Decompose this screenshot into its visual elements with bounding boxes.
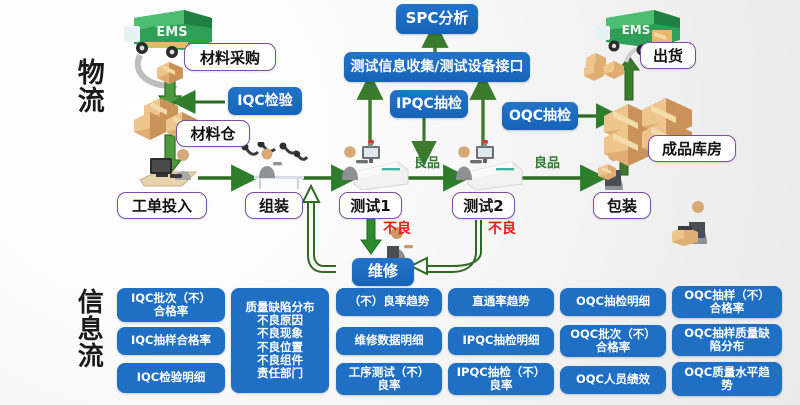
chip-oqc-sampling-defect-distribution[interactable]: OQC抽样质量缺 陷分布 xyxy=(672,324,782,356)
chip-iqc-sampling-pass-rate[interactable]: IQC抽样合格率 xyxy=(117,327,225,355)
box-spc-analysis[interactable]: SPC分析 xyxy=(396,4,478,34)
repair-out-path-b xyxy=(314,200,336,266)
chip-iqc-inspection-detail[interactable]: IQC检验明细 xyxy=(117,363,225,393)
box-oqc-sampling[interactable]: OQC抽检 xyxy=(502,102,578,130)
svg-text:EMS: EMS xyxy=(622,23,651,37)
assembly-station-icon xyxy=(240,142,310,190)
flow-label-defect-2: 不良 xyxy=(488,218,516,238)
chip-oqc-sampling-detail[interactable]: OQC抽检明细 xyxy=(560,288,666,316)
svg-text:EMS: EMS xyxy=(156,25,187,40)
chip-ipqc-sampling-yield[interactable]: IPQC抽检（不） 良率 xyxy=(448,363,554,395)
chip-oqc-quality-level-trend[interactable]: OQC质量水平趋 势 xyxy=(672,362,782,396)
label-shipment[interactable]: 出货 xyxy=(640,42,696,69)
arrow-test1-to-repair xyxy=(361,218,381,254)
box-packer-icon xyxy=(668,200,716,246)
test-station-2-icon xyxy=(450,140,524,190)
chip-ipqc-sampling-detail[interactable]: IPQC抽检明细 xyxy=(448,327,554,355)
repair-out-path-a xyxy=(308,200,336,272)
chip-oqc-lot-pass-rate[interactable]: OQC批次（不） 合格率 xyxy=(560,325,666,357)
shipment-cartons-icon xyxy=(584,50,628,84)
chip-oqc-staff-performance[interactable]: OQC人员绩效 xyxy=(560,366,666,394)
diagram-canvas: EMS EMS xyxy=(0,0,800,405)
box-ipqc-sampling[interactable]: IPQC抽检 xyxy=(390,90,468,118)
repair-return-path-test2b xyxy=(425,220,481,266)
box-repair[interactable]: 维修 xyxy=(352,258,414,286)
test-station-1-icon xyxy=(336,140,410,190)
section-label-information-text: 信息流 xyxy=(75,288,102,369)
work-order-operator-icon xyxy=(138,146,200,190)
carton-small-icon xyxy=(155,58,185,84)
chip-yield-trend[interactable]: （不）良率趋势 xyxy=(336,288,442,316)
section-label-logistics: 物流 xyxy=(56,58,120,114)
chip-first-pass-yield-trend[interactable]: 直通率趋势 xyxy=(448,288,554,316)
label-material-warehouse[interactable]: 材料仓 xyxy=(176,120,250,147)
label-test-1[interactable]: 测试1 xyxy=(339,192,402,219)
chip-repair-data-detail[interactable]: 维修数据明细 xyxy=(336,327,442,355)
chip-iqc-lot-pass-rate[interactable]: IQC批次（不） 合格率 xyxy=(117,288,225,322)
section-label-information: 信息流 xyxy=(58,288,118,369)
label-material-purchase[interactable]: 材料采购 xyxy=(184,43,276,71)
chip-quality-defect-distribution[interactable]: 质量缺陷分布 不良原因 不良现象 不良位置 不良组件 责任部门 xyxy=(231,288,329,393)
section-label-logistics-text: 物流 xyxy=(74,58,102,114)
flow-label-good-2: 良品 xyxy=(534,152,560,171)
label-work-order-input[interactable]: 工单投入 xyxy=(117,192,207,219)
box-iqc-inspection[interactable]: IQC检验 xyxy=(228,87,302,115)
flow-label-defect-1: 不良 xyxy=(383,218,411,238)
label-finished-goods-warehouse[interactable]: 成品库房 xyxy=(648,135,736,162)
box-test-info-collection[interactable]: 测试信息收集/测试设备接口 xyxy=(344,52,530,82)
chip-process-test-yield[interactable]: 工序测试（不） 良率 xyxy=(336,363,442,395)
label-packaging[interactable]: 包装 xyxy=(593,192,651,219)
chip-oqc-sampling-pass-rate[interactable]: OQC抽样（不） 合格率 xyxy=(672,286,782,318)
label-test-2[interactable]: 测试2 xyxy=(452,192,515,219)
label-assembly[interactable]: 组装 xyxy=(245,192,303,219)
flow-label-good-1: 良品 xyxy=(414,152,440,171)
